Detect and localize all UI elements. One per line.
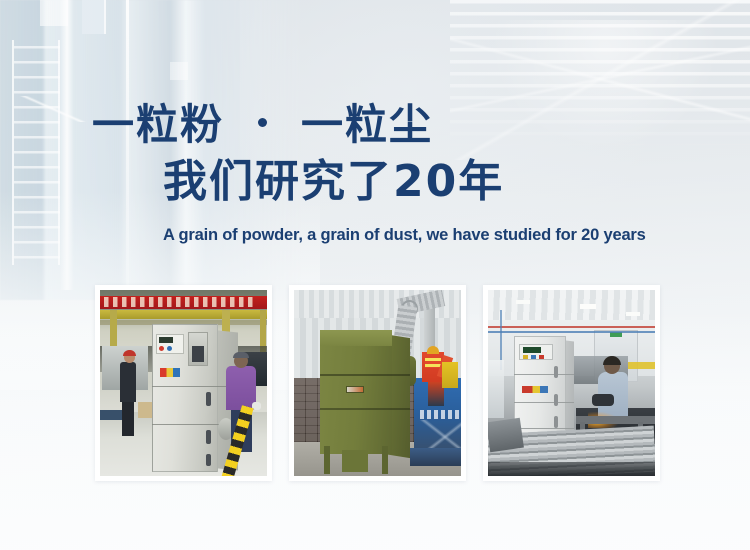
photo-3-cabinet-seam-2: [514, 402, 574, 403]
separator-dot-icon: [258, 118, 267, 127]
photo-3-color-sticker: [522, 386, 548, 393]
photo-3-foreground-pipe: [488, 418, 524, 452]
photo-2-collector-seam-upper: [320, 374, 410, 376]
headline-subtitle: A grain of powder, a grain of dust, we h…: [163, 226, 750, 245]
photo-3-ceiling-lamp-1: [580, 304, 596, 309]
photo-1-worker-left-cap: [123, 350, 136, 356]
photo-1-banner-text: [104, 297, 254, 307]
photo-2-lift-base: [410, 448, 461, 466]
photo-1-door-handle-upper: [206, 392, 211, 406]
photo-frame-1[interactable]: [95, 285, 272, 481]
photo-2-support-leg-left: [324, 446, 330, 474]
photo-2-worker-helmet: [427, 346, 439, 354]
photo-2-dust-hopper: [342, 450, 368, 472]
photo-3-cabinet-seam-3: [514, 428, 574, 429]
photo-3-door-handle-upper: [554, 366, 558, 378]
headline-block: 一粒粉 一粒尘 我们研究了20年 A grain of powder, a gr…: [0, 104, 750, 245]
photo-3-blue-pipe: [488, 331, 655, 333]
photo-3-red-pipe: [488, 326, 655, 328]
photo-2-nameplate: [346, 386, 364, 393]
photo-1-red-button: [159, 346, 164, 351]
photo-1-door-handle-mid: [206, 430, 211, 444]
photo-1-door-handle-lower: [206, 454, 211, 466]
photo-2-collector-top: [320, 330, 392, 346]
background-box-upper-mid: [82, 0, 106, 34]
photo-1-worker-left-body: [120, 362, 136, 402]
photo-3-door-handle-mid: [554, 394, 558, 406]
photo-2-second-worker: [442, 362, 458, 388]
photo-3-material-rack: [576, 416, 655, 424]
photo-3-ceiling: [488, 290, 655, 324]
photo-1-color-label: [160, 368, 180, 377]
photo-3-foreground-shadow: [488, 462, 655, 476]
photo-3-ceiling-lamp-2: [626, 312, 640, 316]
photo-1-inverter-screen: [192, 346, 204, 362]
photo-1-worker-left-legs: [122, 400, 134, 436]
photo-3-door-handle-lower: [554, 416, 558, 428]
photo-1-factory-assembly: [100, 290, 267, 476]
photo-frame-2[interactable]: [289, 285, 466, 481]
promo-banner: 一粒粉 一粒尘 我们研究了20年 A grain of powder, a gr…: [0, 0, 750, 550]
headline-line-1: 一粒粉 一粒尘: [92, 104, 750, 146]
headline-line-2: 我们研究了20年: [163, 160, 750, 204]
photo-row: [95, 285, 660, 481]
photo-3-red-button: [539, 355, 544, 359]
photo-3-worker-arm: [592, 394, 614, 406]
background-box-small: [170, 62, 188, 80]
headline-line-1-right: 一粒尘: [301, 104, 433, 146]
photo-2-lift-branding: [420, 410, 461, 419]
photo-3-display: [523, 347, 541, 353]
headline-line-1-left: 一粒粉: [92, 104, 224, 146]
photo-2-support-leg-right: [382, 446, 388, 474]
photo-3-background-figure: [488, 360, 504, 418]
photo-1-pallet: [100, 410, 122, 420]
photo-3-workshop-collector: [488, 290, 655, 476]
photo-1-worker-right-cap: [233, 352, 249, 358]
photo-3-ceiling-lamp-3: [516, 300, 530, 304]
photo-3-blue-button: [531, 355, 536, 359]
photo-1-blue-button: [167, 346, 172, 351]
photo-3-yellow-shelf: [628, 362, 655, 369]
photo-1-display: [159, 337, 173, 343]
photo-2-collector-seam-lower: [320, 408, 410, 410]
background-box-upper-left: [40, 0, 68, 26]
photo-3-yellow-button: [523, 355, 528, 359]
photo-1-yellow-beam: [100, 310, 267, 319]
photo-3-cabinet-seam-1: [514, 374, 574, 375]
photo-frame-3[interactable]: [483, 285, 660, 481]
photo-2-green-collector: [294, 290, 461, 476]
